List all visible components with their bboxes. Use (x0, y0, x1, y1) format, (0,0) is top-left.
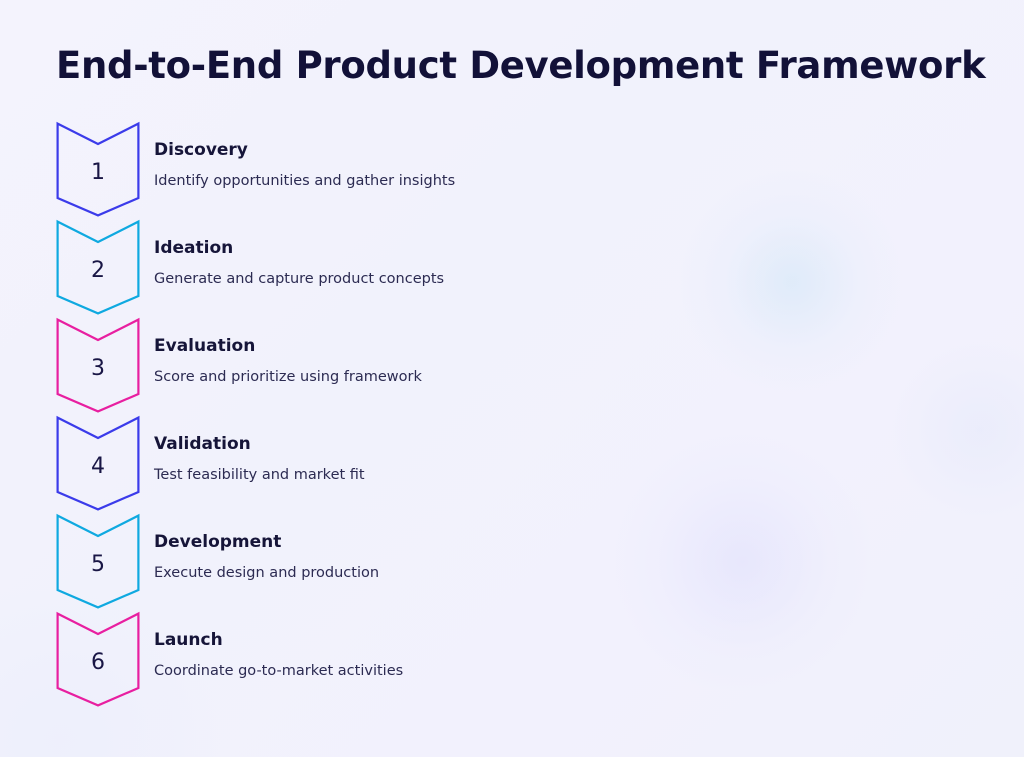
step-title: Validation (154, 434, 365, 454)
step-description: Coordinate go-to-market activities (154, 662, 403, 680)
step-description: Test feasibility and market fit (154, 466, 365, 484)
chevron-icon (56, 416, 140, 511)
step-description: Generate and capture product concepts (154, 270, 444, 288)
step-text-block: LaunchCoordinate go-to-market activities (154, 630, 403, 681)
step-text-block: ValidationTest feasibility and market fi… (154, 434, 365, 485)
step-text-block: IdeationGenerate and capture product con… (154, 238, 444, 289)
process-step[interactable]: 4ValidationTest feasibility and market f… (0, 416, 1024, 514)
step-text-block: EvaluationScore and prioritize using fra… (154, 336, 422, 387)
step-text-block: DevelopmentExecute design and production (154, 532, 379, 583)
step-chevron-shape[interactable]: 6 (56, 612, 140, 707)
step-chevron-shape[interactable]: 5 (56, 514, 140, 609)
step-chevron-shape[interactable]: 4 (56, 416, 140, 511)
chevron-icon (56, 514, 140, 609)
step-chevron-shape[interactable]: 1 (56, 122, 140, 217)
step-title: Development (154, 532, 379, 552)
step-description: Execute design and production (154, 564, 379, 582)
process-step[interactable]: 6LaunchCoordinate go-to-market activitie… (0, 612, 1024, 710)
page-title: End-to-End Product Development Framework (56, 44, 985, 87)
step-title: Evaluation (154, 336, 422, 356)
step-title: Discovery (154, 140, 455, 160)
step-chevron-shape[interactable]: 2 (56, 220, 140, 315)
slide-canvas: End-to-End Product Development Framework… (0, 0, 1024, 757)
process-step-list: 1DiscoveryIdentify opportunities and gat… (0, 122, 1024, 710)
step-title: Ideation (154, 238, 444, 258)
process-step[interactable]: 3EvaluationScore and prioritize using fr… (0, 318, 1024, 416)
step-description: Score and prioritize using framework (154, 368, 422, 386)
chevron-icon (56, 612, 140, 707)
chevron-icon (56, 318, 140, 413)
step-title: Launch (154, 630, 403, 650)
process-step[interactable]: 2IdeationGenerate and capture product co… (0, 220, 1024, 318)
step-description: Identify opportunities and gather insigh… (154, 172, 455, 190)
step-chevron-shape[interactable]: 3 (56, 318, 140, 413)
chevron-icon (56, 122, 140, 217)
step-text-block: DiscoveryIdentify opportunities and gath… (154, 140, 455, 191)
process-step[interactable]: 1DiscoveryIdentify opportunities and gat… (0, 122, 1024, 220)
chevron-icon (56, 220, 140, 315)
process-step[interactable]: 5DevelopmentExecute design and productio… (0, 514, 1024, 612)
